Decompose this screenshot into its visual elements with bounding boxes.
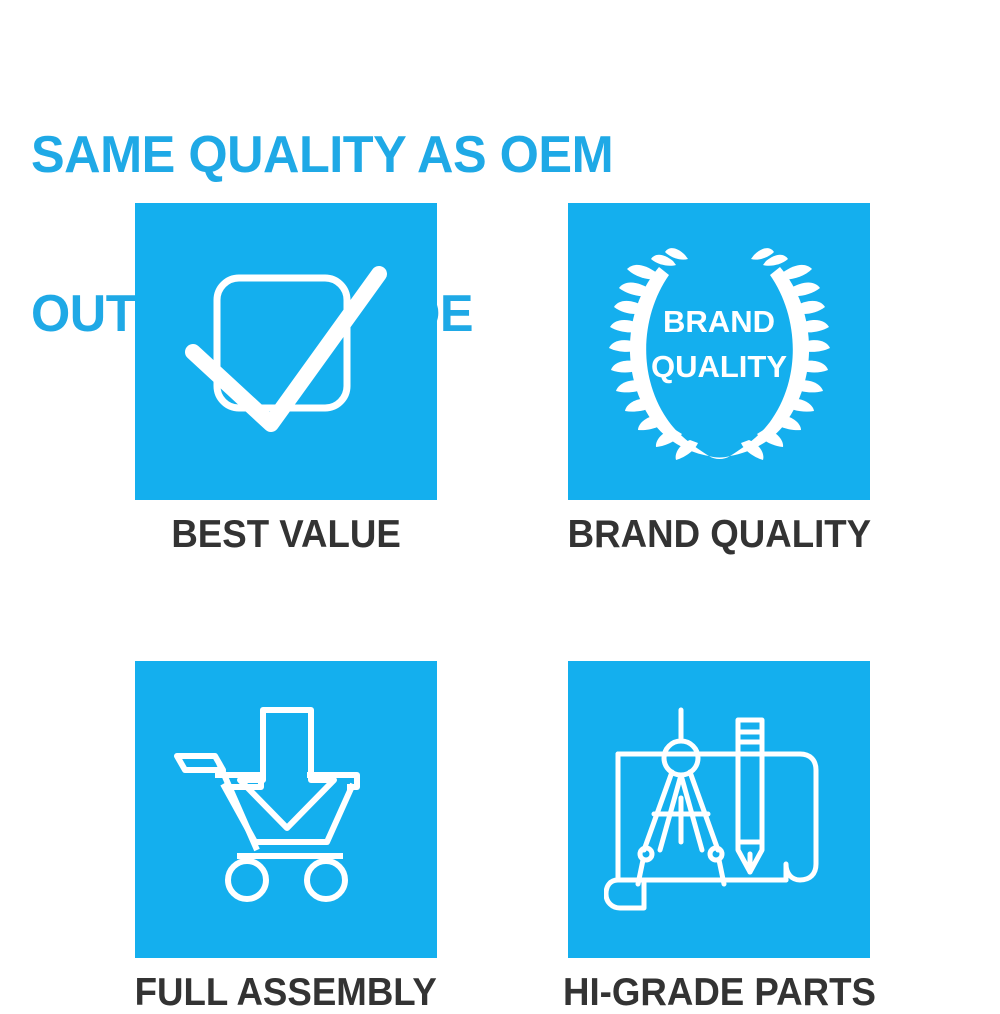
checkbox-check-icon (171, 252, 401, 452)
feature-tile (135, 203, 437, 500)
laurel-wreath-icon: BRAND QUALITY (597, 237, 842, 467)
feature-full-assembly[interactable]: FULL ASSEMBLY (135, 661, 437, 1014)
feature-hi-grade-parts[interactable]: HI-GRADE PARTS (568, 661, 870, 1014)
feature-label: HI-GRADE PARTS (563, 972, 876, 1014)
feature-label: BRAND QUALITY (567, 514, 870, 556)
blueprint-compass-pencil-icon (604, 702, 834, 917)
feature-tile: BRAND QUALITY (568, 203, 870, 500)
feature-label: FULL ASSEMBLY (135, 972, 437, 1014)
feature-tile (135, 661, 437, 958)
feature-best-value[interactable]: BEST VALUE (135, 203, 437, 556)
infographic-poster: SAME QUALITY AS OEM OUTSIDE + INSIDE BES… (0, 0, 1000, 1000)
feature-brand-quality[interactable]: BRAND QUALITY BRAND QUALITY (568, 203, 870, 556)
feature-label: BEST VALUE (171, 514, 400, 556)
feature-grid: BEST VALUE (135, 203, 870, 1014)
feature-row: FULL ASSEMBLY (135, 661, 870, 1014)
feature-tile (568, 661, 870, 958)
feature-row: BEST VALUE (135, 203, 870, 556)
headline-line-1: SAME QUALITY AS OEM (31, 129, 904, 182)
laurel-badge-line-2: QUALITY (650, 349, 786, 384)
laurel-badge-line-1: BRAND (663, 304, 775, 339)
shopping-cart-download-icon (171, 702, 401, 917)
